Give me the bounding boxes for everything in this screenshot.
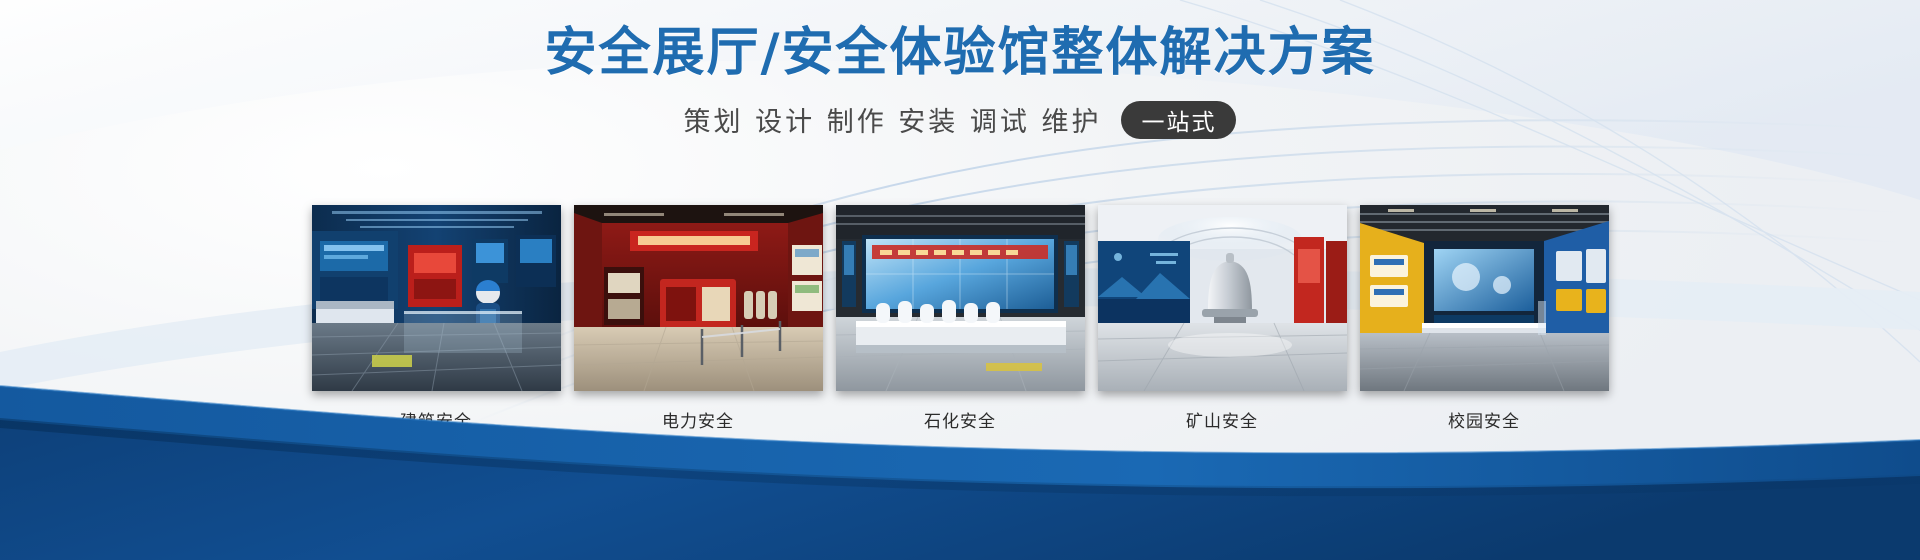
promo-banner: 安全展厅/安全体验馆整体解决方案 策划 设计 制作 安装 调试 维护 一站式	[0, 0, 1920, 560]
thumbnail-caption: 校园安全	[1448, 407, 1520, 432]
thumbnail-item-electric-power[interactable]: 电力安全	[574, 205, 823, 432]
thumbnail-item-petrochemical[interactable]: 石化安全	[836, 205, 1085, 432]
thumbnail-gallery: 建筑安全	[0, 205, 1920, 432]
one-stop-badge: 一站式	[1121, 101, 1236, 139]
thumbnail-image-mining[interactable]	[1098, 205, 1347, 391]
thumbnail-caption: 电力安全	[662, 407, 734, 432]
thumbnail-image-electric-power[interactable]	[574, 205, 823, 391]
thumbnail-item-construction[interactable]: 建筑安全	[312, 205, 561, 432]
thumbnail-image-construction[interactable]	[312, 205, 561, 391]
banner-title-block: 安全展厅/安全体验馆整体解决方案	[0, 24, 1920, 84]
thumbnail-image-campus[interactable]	[1360, 205, 1609, 391]
thumbnail-caption: 石化安全	[924, 407, 996, 432]
page-title: 安全展厅/安全体验馆整体解决方案	[0, 24, 1920, 84]
thumbnail-caption: 矿山安全	[1186, 407, 1258, 432]
thumbnail-item-mining[interactable]: 矿山安全	[1098, 205, 1347, 432]
service-steps-text: 策划 设计 制作 安装 调试 维护	[684, 100, 1102, 139]
banner-subtitle-row: 策划 设计 制作 安装 调试 维护 一站式	[0, 100, 1920, 139]
thumbnail-item-campus[interactable]: 校园安全	[1360, 205, 1609, 432]
thumbnail-caption: 建筑安全	[400, 407, 472, 432]
thumbnail-image-petrochemical[interactable]	[836, 205, 1085, 391]
